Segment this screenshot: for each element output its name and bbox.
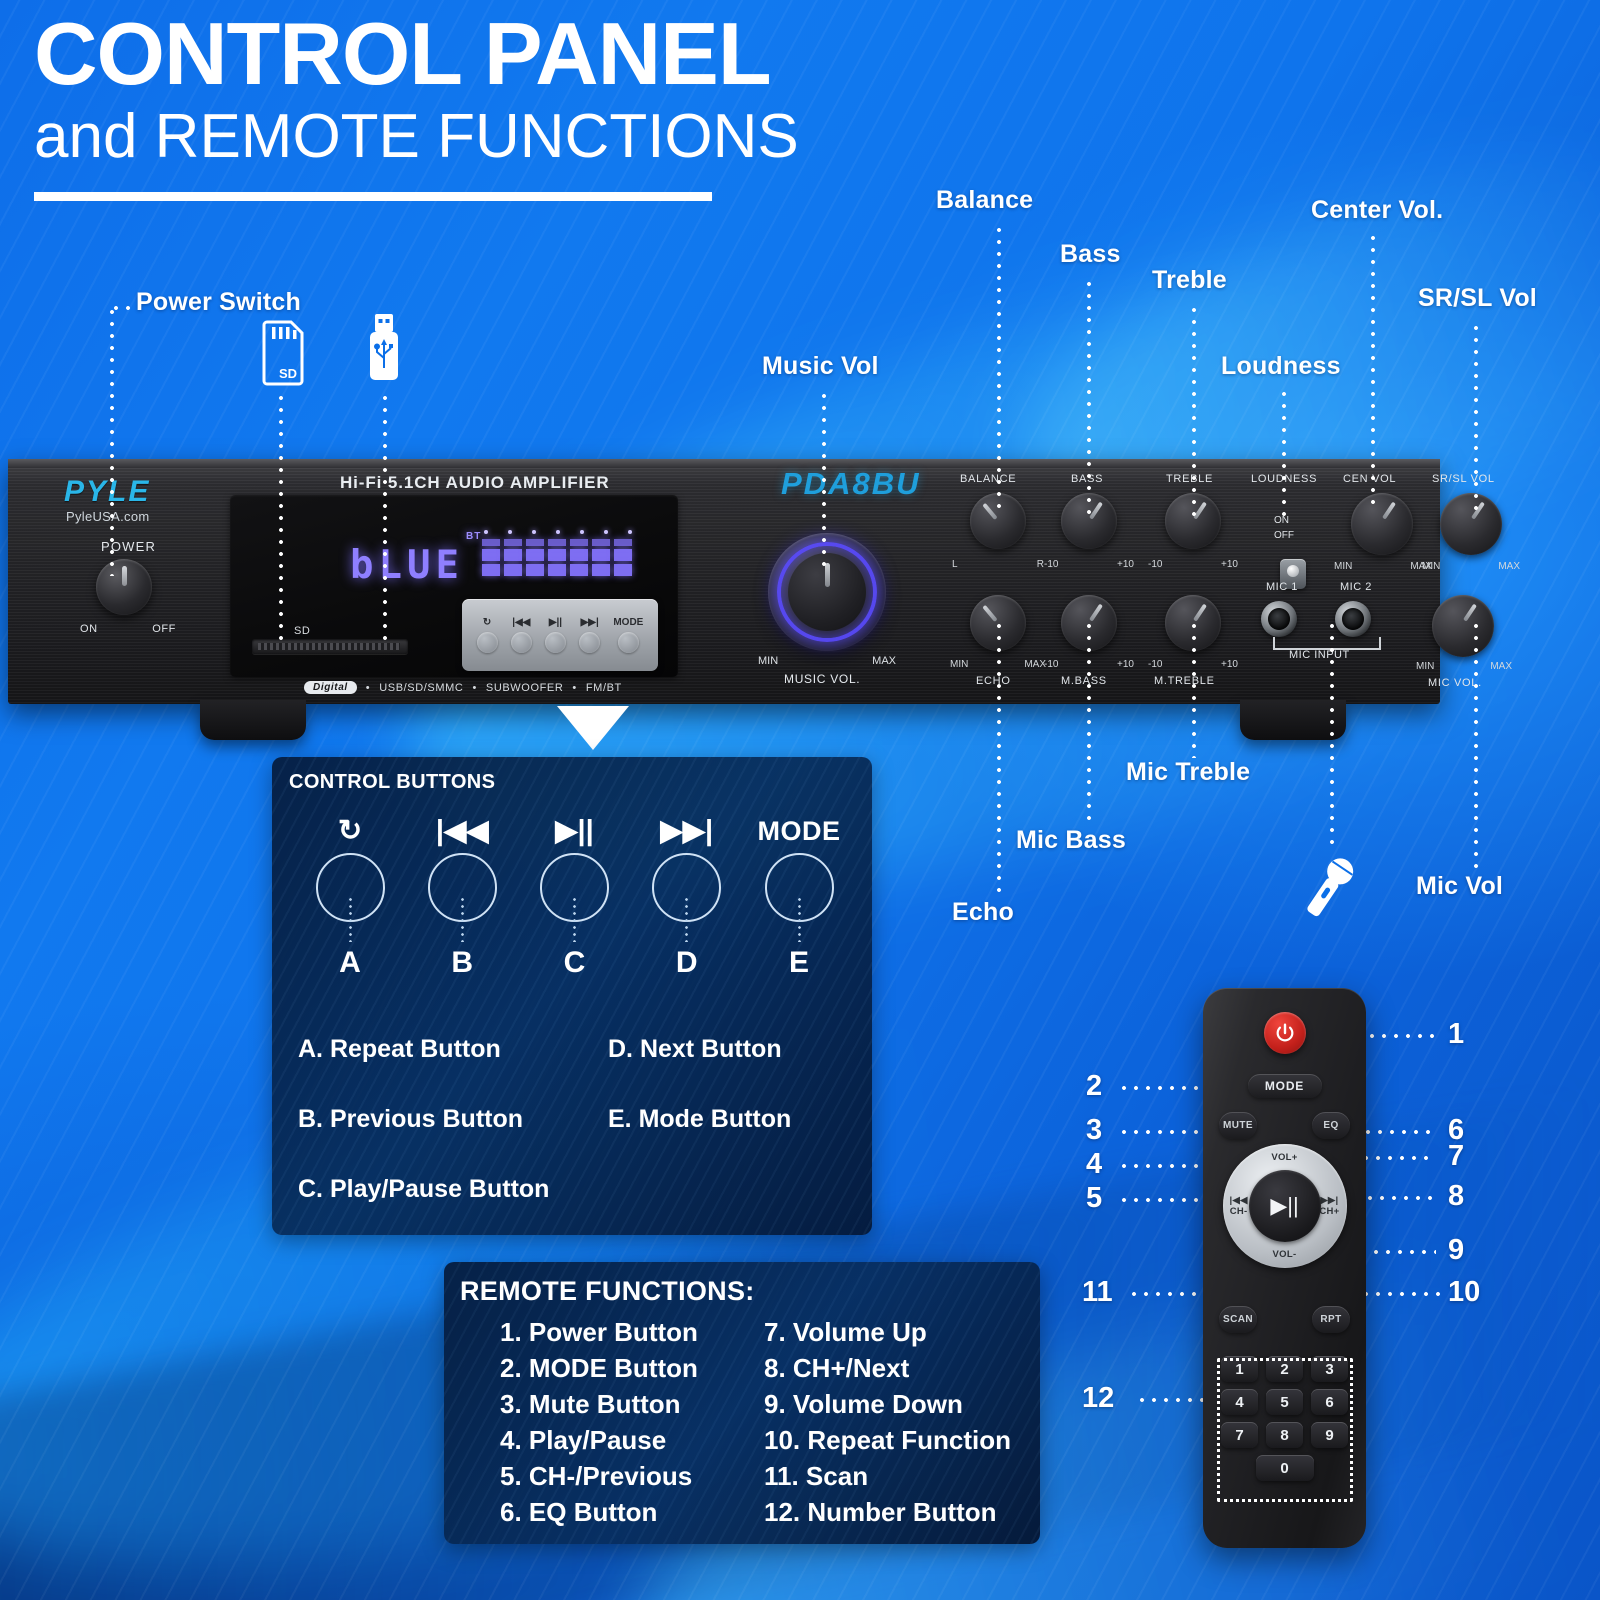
remote-function-item: 11. Scan	[764, 1458, 1024, 1494]
remote-number-7: 7	[1448, 1140, 1464, 1173]
remote-function-item: 9. Volume Down	[764, 1386, 1024, 1422]
music-volume-scale: MIN MAX	[758, 655, 896, 667]
next-icon: ▶▶|	[581, 618, 599, 628]
remote-function-item: 4. Play/Pause	[500, 1422, 744, 1458]
balance-knob-label: BALANCE	[960, 473, 1016, 485]
echo-scale-right: MAX	[1024, 659, 1046, 670]
power-on-off-labels: ON OFF	[80, 623, 176, 635]
remote-power-button[interactable]	[1264, 1012, 1306, 1054]
center-vol-min: MIN	[1334, 561, 1352, 572]
remote-function-item: 12. Number Button	[764, 1494, 1024, 1530]
sr-sl-vol-label: SR/SL VOL	[1432, 473, 1495, 485]
sr-sl-vol-min: MIN	[1422, 561, 1440, 572]
bass-scale: -10 +10	[1044, 559, 1134, 570]
page-header: CONTROL PANEL and REMOTE FUNCTIONS	[34, 10, 799, 201]
control-buttons-title: CONTROL BUTTONS	[289, 771, 495, 794]
treble-scale: -10 +10	[1148, 559, 1238, 570]
remote-function-item: 5. CH-/Previous	[500, 1458, 744, 1494]
previous-icon: |◀◀	[1230, 1195, 1248, 1206]
button-letter-b: B	[451, 946, 473, 980]
pyle-logo: PYLE	[64, 475, 150, 509]
button-letter-d: D	[676, 946, 698, 980]
remote-volume-up-label[interactable]: VOL+	[1271, 1152, 1297, 1163]
control-button-c[interactable]: ▶|| C	[527, 813, 623, 980]
panel-button-bar: ↻ |◀◀ ▶|| ▶▶| MODE	[462, 599, 658, 671]
description-column-right: D. Next Button E. Mode Button	[608, 1035, 872, 1175]
callout-center-vol: Center Vol.	[1311, 196, 1443, 225]
mic-vol-scale: MIN MAX	[1416, 661, 1512, 672]
panel-button-next[interactable]: ▶▶|	[579, 618, 600, 653]
remote-repeat-button[interactable]: RPT	[1312, 1306, 1350, 1333]
previous-icon: |◀◀	[512, 618, 530, 628]
amplifier-top-strip	[8, 459, 1440, 468]
leader-line-mic-icon	[1330, 620, 1334, 848]
amplifier-chassis: PYLE PyleUSA.com Hi-Fi 5.1CH AUDIO AMPLI…	[8, 459, 1440, 704]
next-icon: ▶▶|	[1319, 1195, 1339, 1206]
callout-power-switch: Power Switch	[136, 288, 301, 317]
leader-line-treble	[1192, 304, 1196, 519]
sd-card-slot[interactable]	[252, 639, 408, 654]
remote-functions-columns: 1. Power Button 2. MODE Button 3. Mute B…	[464, 1314, 1024, 1530]
mic-bass-scale-left: -10	[1044, 659, 1058, 670]
remote-number-11: 11	[1082, 1276, 1113, 1309]
panel-button-previous[interactable]: |◀◀	[511, 618, 532, 653]
remote-number-2: 2	[1086, 1070, 1102, 1103]
leader-line-music-vol	[822, 390, 826, 570]
remote-number-4: 4	[1086, 1148, 1102, 1181]
leader-line-balance	[997, 224, 1001, 514]
microphone-icon	[1298, 852, 1360, 924]
sr-sl-vol-max: MAX	[1498, 561, 1520, 572]
button-letter-e: E	[789, 946, 809, 980]
music-volume-max: MAX	[872, 655, 896, 667]
treble-scale-right: +10	[1221, 559, 1238, 570]
description-item: D. Next Button	[608, 1035, 872, 1064]
leader-line-bass	[1087, 278, 1091, 518]
description-item: C. Play/Pause Button	[298, 1175, 588, 1204]
power-off-label: OFF	[152, 623, 176, 635]
remote-function-item: 10. Repeat Function	[764, 1422, 1024, 1458]
panel-button-repeat[interactable]: ↻	[477, 618, 498, 653]
callout-balance: Balance	[936, 186, 1033, 215]
mic1-label: MIC 1	[1266, 581, 1298, 593]
usb-sd-label: USB/SD/SMMC	[379, 682, 463, 694]
bluetooth-indicator: BT	[466, 531, 481, 542]
center-vol-knob[interactable]	[1351, 493, 1413, 555]
remote-number-8: 8	[1448, 1180, 1464, 1213]
callout-treble: Treble	[1152, 266, 1227, 295]
remote-ch-plus-label[interactable]: ▶▶| CH+	[1319, 1195, 1339, 1217]
music-volume-knob[interactable]	[768, 533, 886, 651]
leader-line-loudness	[1282, 388, 1286, 518]
vfd-display: bLUE BT	[350, 537, 650, 589]
digital-badge: Digital	[304, 681, 357, 694]
button-letter-c: C	[564, 946, 586, 980]
callout-echo: Echo	[952, 898, 1014, 927]
mic2-label: MIC 2	[1340, 581, 1372, 593]
remote-mode-button[interactable]: MODE	[1248, 1074, 1322, 1098]
sd-card-icon: SD	[258, 320, 304, 386]
usb-drive-icon	[366, 312, 402, 382]
remote-number-3: 3	[1086, 1114, 1102, 1147]
description-item: A. Repeat Button	[298, 1035, 588, 1064]
control-buttons-panel: CONTROL BUTTONS ↻ A |◀◀ B ▶|| C ▶▶| D MO…	[272, 757, 872, 1235]
next-icon: ▶▶|	[660, 813, 713, 849]
music-volume-label: MUSIC VOL.	[784, 672, 860, 686]
control-button-e[interactable]: MODE E	[751, 813, 847, 980]
amplifier-model: PDA8BU	[781, 466, 920, 502]
leader-line	[798, 896, 801, 942]
echo-knob-label: ECHO	[976, 675, 1011, 687]
mic-treble-scale-left: -10	[1148, 659, 1162, 670]
leader-line-srsl-vol	[1474, 322, 1478, 517]
mic-vol-min: MIN	[1416, 661, 1434, 672]
page-subtitle: and REMOTE FUNCTIONS	[34, 104, 799, 170]
remote-function-item: 1. Power Button	[500, 1314, 744, 1350]
panel-button-dot	[511, 632, 532, 653]
description-column-left: A. Repeat Button B. Previous Button C. P…	[298, 1035, 588, 1235]
mic-vol-max: MAX	[1490, 661, 1512, 672]
balance-scale-right: R	[1037, 559, 1044, 570]
remote-scan-button[interactable]: SCAN	[1219, 1306, 1257, 1333]
remote-number-12: 12	[1082, 1382, 1114, 1415]
mic-treble-knob-label: M.TREBLE	[1154, 675, 1215, 687]
callout-music-vol: Music Vol	[762, 352, 879, 381]
remote-eq-button[interactable]: EQ	[1312, 1112, 1350, 1139]
fm-bt-label: FM/BT	[586, 682, 622, 694]
pyle-url: PyleUSA.com	[66, 509, 150, 524]
panel-button-play-pause[interactable]: ▶||	[545, 618, 566, 653]
leader-line-center-vol	[1371, 232, 1375, 512]
remote-number-9: 9	[1448, 1234, 1464, 1267]
balance-scale: L R	[952, 559, 1044, 570]
bass-scale-left: -10	[1044, 559, 1058, 570]
remote-function-item: 3. Mute Button	[500, 1386, 744, 1422]
panel-button-dot	[579, 632, 600, 653]
ch-minus-text: CH-	[1230, 1206, 1248, 1217]
leader-line-power	[110, 306, 114, 576]
panel-button-dot	[477, 632, 498, 653]
control-button-d[interactable]: ▶▶| D	[639, 813, 735, 980]
remote-function-item: 8. CH+/Next	[764, 1350, 1024, 1386]
remote-ch-minus-label[interactable]: |◀◀ CH-	[1230, 1195, 1248, 1217]
repeat-icon: ↻	[338, 813, 362, 849]
remote-functions-title: REMOTE FUNCTIONS:	[460, 1276, 755, 1307]
remote-functions-column-2: 7. Volume Up 8. CH+/Next 9. Volume Down …	[744, 1314, 1024, 1530]
balance-scale-left: L	[952, 559, 958, 570]
leader-line	[573, 896, 576, 942]
vfd-top-dots	[484, 530, 632, 534]
control-button-a[interactable]: ↻ A	[302, 813, 398, 980]
remote-functions-panel: REMOTE FUNCTIONS: 1. Power Button 2. MOD…	[444, 1262, 1040, 1544]
treble-scale-left: -10	[1148, 559, 1162, 570]
leader-line-echo	[997, 620, 1001, 892]
panel-button-dot	[618, 632, 639, 653]
display-panel: bLUE BT SD USB	[230, 495, 678, 677]
remote-navigation-ring[interactable]: VOL+ VOL- |◀◀ CH- ▶▶| CH+ ▶||	[1223, 1144, 1347, 1268]
page-title: CONTROL PANEL	[34, 10, 799, 98]
control-button-b[interactable]: |◀◀ B	[414, 813, 510, 980]
mic-input-label: MIC INPUT	[1289, 649, 1350, 661]
remote-function-item: 2. MODE Button	[500, 1350, 744, 1386]
bass-scale-right: +10	[1117, 559, 1134, 570]
description-item: E. Mode Button	[608, 1105, 872, 1134]
leader-line-mic-bass	[1087, 620, 1091, 825]
amplifier-tagline: Hi-Fi 5.1CH AUDIO AMPLIFIER	[340, 473, 610, 493]
keypad-selection-box	[1217, 1358, 1353, 1502]
bullet: •	[472, 682, 476, 694]
power-knob[interactable]	[96, 559, 152, 615]
leader-line-mic-vol	[1474, 620, 1478, 868]
sr-sl-vol-knob[interactable]	[1440, 493, 1502, 555]
music-volume-cap	[788, 553, 866, 631]
vfd-segment-matrix	[482, 539, 632, 576]
mic-bass-knob-label: M.BASS	[1061, 675, 1107, 687]
music-volume-min: MIN	[758, 655, 778, 667]
mic1-jack[interactable]	[1261, 601, 1297, 637]
amplifier-unit: PYLE PyleUSA.com Hi-Fi 5.1CH AUDIO AMPLI…	[8, 459, 1440, 704]
sr-sl-vol-scale: MIN MAX	[1422, 561, 1520, 572]
ch-plus-text: CH+	[1319, 1206, 1339, 1217]
remote-number-5: 5	[1086, 1182, 1102, 1215]
leader-line-mic-treble	[1192, 620, 1196, 758]
power-icon	[1274, 1022, 1296, 1044]
center-vol-label: CEN VOL	[1343, 473, 1396, 485]
panel-button-mode[interactable]: MODE	[613, 618, 643, 653]
mode-label: MODE	[613, 618, 643, 628]
play-pause-icon: ▶||	[555, 813, 594, 849]
pointer-arrow-down	[557, 706, 629, 750]
remote-function-item: 6. EQ Button	[500, 1494, 744, 1530]
mic2-jack[interactable]	[1335, 601, 1371, 637]
svg-text:SD: SD	[279, 366, 297, 381]
remote-mute-button[interactable]: MUTE	[1219, 1112, 1257, 1139]
callout-sr-sl-vol: SR/SL Vol	[1418, 284, 1537, 313]
play-pause-icon: ▶||	[549, 618, 562, 628]
callout-mic-treble: Mic Treble	[1126, 758, 1250, 787]
previous-icon: |◀◀	[436, 813, 489, 849]
subwoofer-label: SUBWOOFER	[486, 682, 564, 694]
sd-slot-label: SD	[294, 625, 310, 637]
description-item: B. Previous Button	[298, 1105, 588, 1134]
amplifier-feature-strip: Digital • USB/SD/SMMC • SUBWOOFER • FM/B…	[304, 681, 622, 694]
remote-function-item: 7. Volume Up	[764, 1314, 1024, 1350]
leader-line-usb	[383, 392, 387, 640]
mic-bass-scale-right: +10	[1117, 659, 1134, 670]
vfd-display-text: bLUE	[350, 543, 464, 588]
control-buttons-row: ↻ A |◀◀ B ▶|| C ▶▶| D MODE E	[302, 813, 847, 980]
callout-mic-vol: Mic Vol	[1416, 872, 1503, 901]
header-rule	[34, 192, 712, 201]
mode-icon: MODE	[758, 813, 841, 849]
remote-functions-column-1: 1. Power Button 2. MODE Button 3. Mute B…	[464, 1314, 744, 1530]
leader-line	[349, 896, 352, 942]
callout-bass: Bass	[1060, 240, 1121, 269]
center-vol-scale: MIN MAX	[1334, 561, 1432, 572]
callout-loudness: Loudness	[1221, 352, 1341, 381]
button-letter-a: A	[339, 946, 361, 980]
loudness-off-label: OFF	[1274, 528, 1294, 543]
remote-play-pause-button[interactable]: ▶||	[1249, 1170, 1321, 1242]
treble-knob-label: TREBLE	[1166, 473, 1213, 485]
bullet: •	[572, 682, 576, 694]
amplifier-foot	[200, 700, 306, 740]
remote-number-1: 1	[1448, 1018, 1464, 1051]
mic-vol-knob[interactable]	[1432, 595, 1494, 657]
leader-line	[685, 896, 688, 942]
leader-line-sd	[279, 392, 283, 647]
panel-button-dot	[545, 632, 566, 653]
bullet: •	[366, 682, 370, 694]
mic-treble-scale-right: +10	[1221, 659, 1238, 670]
echo-scale-left: MIN	[950, 659, 968, 670]
remote-number-10: 10	[1448, 1276, 1480, 1309]
repeat-icon: ↻	[483, 618, 491, 628]
callout-mic-bass: Mic Bass	[1016, 826, 1126, 855]
remote-volume-down-label[interactable]: VOL-	[1273, 1249, 1297, 1260]
power-on-label: ON	[80, 623, 98, 635]
leader-line	[461, 896, 464, 942]
